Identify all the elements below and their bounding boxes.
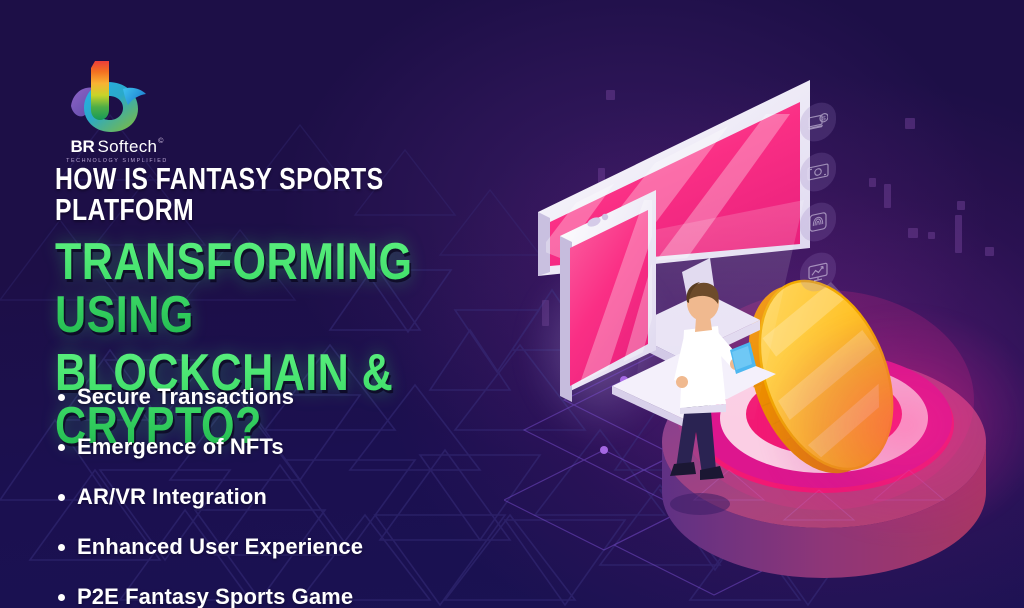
logo-name-light: Softech [98, 137, 158, 157]
bullet-dot-icon [58, 444, 65, 451]
list-item: Secure Transactions [58, 372, 528, 422]
illustration-svg [504, 0, 1024, 608]
bullet-dot-icon [58, 594, 65, 601]
chip-banknote [800, 149, 836, 195]
bullet-label: AR/VR Integration [77, 484, 267, 510]
chip-chart-monitor [800, 249, 836, 295]
list-item: Enhanced User Experience [58, 522, 528, 572]
list-item: Emergence of NFTs [58, 422, 528, 472]
laptop-dollar-icon: $ [808, 112, 828, 132]
bullet-label: Emergence of NFTs [77, 434, 284, 460]
headline-line-2: TRANSFORMING USING [55, 236, 520, 342]
chip-laptop-dollar: $ [800, 99, 836, 145]
bullet-label: Secure Transactions [77, 384, 294, 410]
chip-fingerprint [800, 199, 836, 245]
logo-wordmark: BR Softech © [57, 137, 177, 157]
bullet-dot-icon [58, 544, 65, 551]
chart-monitor-icon [808, 261, 828, 282]
bullet-dot-icon [58, 494, 65, 501]
brand-logo[interactable]: BR Softech © TECHNOLOGY SIMPLIFIED [57, 58, 177, 164]
list-item: AR/VR Integration [58, 472, 528, 522]
feature-bullet-list: Secure Transactions Emergence of NFTs AR… [58, 372, 528, 608]
feature-icon-chips: $ [800, 103, 836, 303]
promo-banner: BR Softech © TECHNOLOGY SIMPLIFIED HOW I… [0, 0, 1024, 608]
bullet-label: P2E Fantasy Sports Game [77, 584, 353, 608]
bullet-dot-icon [58, 394, 65, 401]
headline-line-1: HOW IS FANTASY SPORTS PLATFORM [55, 163, 503, 225]
list-item: P2E Fantasy Sports Game [58, 572, 528, 608]
registered-mark: © [158, 138, 163, 145]
fingerprint-icon [809, 211, 827, 233]
logo-name-bold: BR [71, 137, 95, 157]
hero-illustration: $ [504, 0, 1024, 608]
brsoftech-b-logo-icon [65, 58, 151, 134]
bullet-label: Enhanced User Experience [77, 534, 363, 560]
banknote-icon [807, 163, 829, 182]
